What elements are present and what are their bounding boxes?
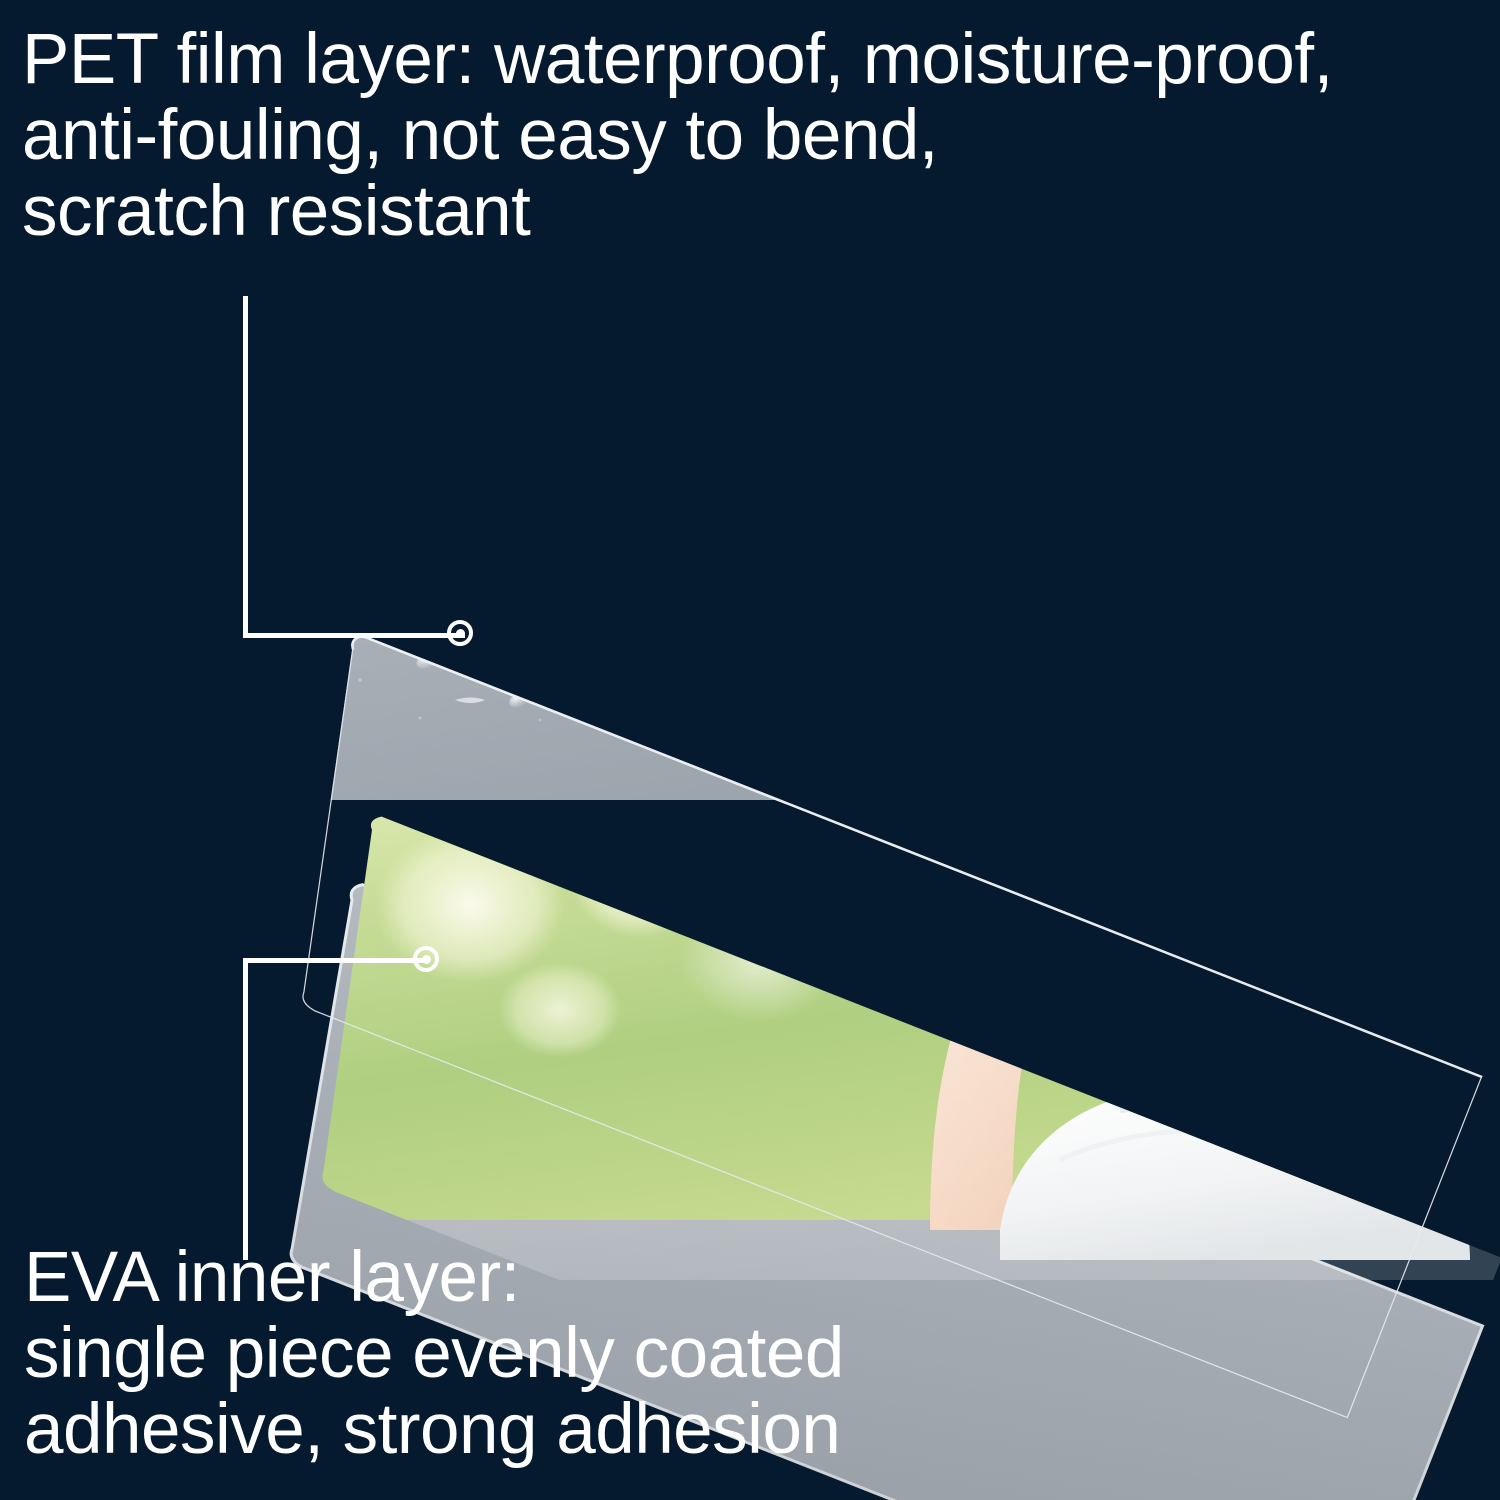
pet-desc-line-3: scratch resistant bbox=[22, 176, 1333, 252]
callout-vertical-line bbox=[243, 960, 248, 1260]
pet-desc-line-2: anti-fouling, not easy to bend, bbox=[22, 100, 1333, 176]
pet-desc-line-1: PET film layer: waterproof, moisture-pro… bbox=[22, 24, 1333, 100]
callout-horizontal-line bbox=[243, 633, 465, 638]
pet-film-description: PET film layer: waterproof, moisture-pro… bbox=[22, 24, 1333, 252]
product-layer-diagram: PET film layer: waterproof, moisture-pro… bbox=[0, 0, 1500, 1500]
ring-marker-icon[interactable] bbox=[447, 620, 473, 646]
eva-desc-line-1: EVA inner layer: bbox=[24, 1242, 844, 1318]
eva-desc-line-2: single piece evenly coated bbox=[24, 1318, 844, 1394]
ring-marker-icon[interactable] bbox=[413, 946, 439, 972]
eva-layer-description: EVA inner layer: single piece evenly coa… bbox=[24, 1242, 844, 1470]
callout-horizontal-line bbox=[243, 958, 428, 963]
callout-vertical-line bbox=[243, 296, 248, 638]
eva-desc-line-3: adhesive, strong adhesion bbox=[24, 1394, 844, 1470]
